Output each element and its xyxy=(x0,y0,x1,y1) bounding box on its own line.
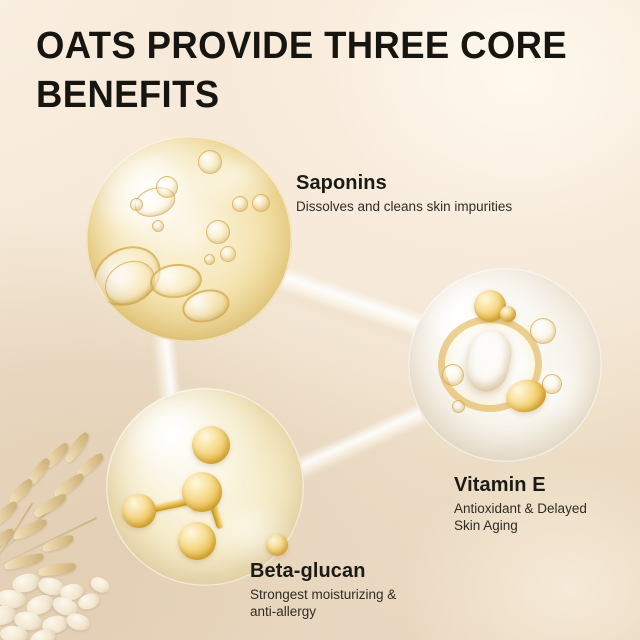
oat-spikelet xyxy=(0,500,20,527)
oat-spikelet xyxy=(41,534,75,552)
benefit-title: Saponins xyxy=(296,172,556,195)
stray-oil-droplet xyxy=(266,534,288,556)
benefit-title: Beta-glucan xyxy=(250,560,465,583)
page-title: OATS PROVIDE THREE CORE BENEFITS xyxy=(36,22,574,119)
benefit-description: Strongest moisturizing & anti-allergy xyxy=(250,586,465,621)
oat-decoration xyxy=(0,438,176,640)
benefit-description: Antioxidant & Delayed Skin Aging xyxy=(454,500,639,535)
saponins-sphere-graphic xyxy=(86,136,292,342)
benefit-label-saponins: Saponins Dissolves and cleans skin impur… xyxy=(296,172,556,215)
poster-canvas: OATS PROVIDE THREE CORE BENEFITS xyxy=(0,0,640,640)
benefit-description: Dissolves and cleans skin impurities xyxy=(296,198,556,215)
oat-spikelet xyxy=(3,553,44,571)
benefit-label-beta-glucan: Beta-glucan Strongest moisturizing & ant… xyxy=(250,560,465,621)
benefit-label-vitamin-e: Vitamin E Antioxidant & Delayed Skin Agi… xyxy=(454,474,639,535)
sphere-rim xyxy=(408,268,602,462)
oat-spikelet xyxy=(38,563,77,577)
sphere-rim xyxy=(86,136,292,342)
oat-spikelet xyxy=(31,493,68,519)
vitamin-e-sphere-graphic xyxy=(408,268,602,462)
oat-spikelet xyxy=(11,518,49,541)
oat-flake xyxy=(64,610,92,633)
benefit-title: Vitamin E xyxy=(454,474,639,497)
